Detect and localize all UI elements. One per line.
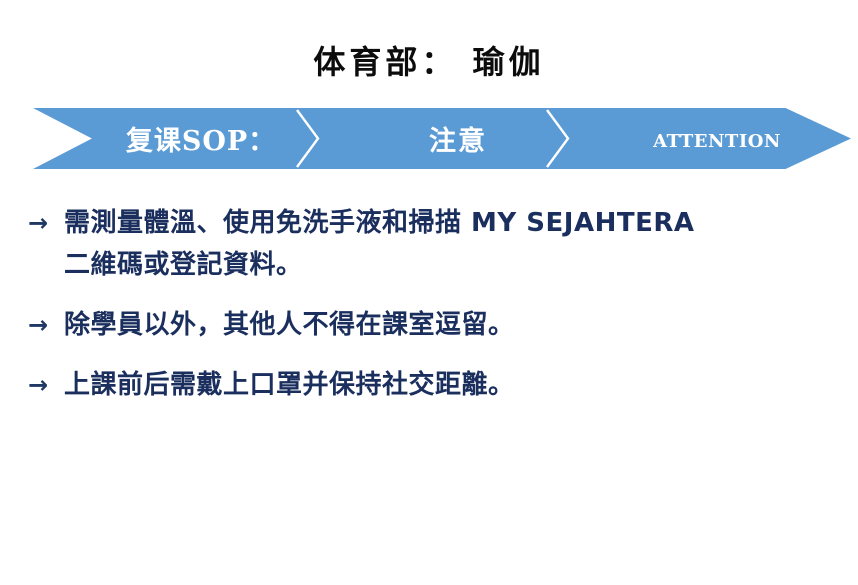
list-item: → 需測量體溫、使用免洗手液和掃描 MY SEJAHTERA 二維碼或登記資料。 <box>28 202 836 286</box>
arrow-right-icon: → <box>28 202 64 244</box>
page-title: 体育部： 瑜伽 <box>0 45 858 80</box>
banner-cell-sop: 复课SOP： <box>33 108 333 169</box>
list-item-body: 需測量體溫、使用免洗手液和掃描 MY SEJAHTERA 二維碼或登記資料。 <box>64 202 836 286</box>
list-item-line: 需測量體溫、使用免洗手液和掃描 MY SEJAHTERA <box>64 202 836 244</box>
banner-cell-sop-label: 复课SOP： <box>126 119 276 158</box>
banner-cell-attention: ATTENTION <box>583 108 851 169</box>
arrow-right-icon: → <box>28 304 64 346</box>
banner-cell-attention-label: ATTENTION <box>653 124 781 154</box>
chevron-banner: 复课SOP： 注意 ATTENTION <box>33 108 851 169</box>
slide-canvas: 体育部： 瑜伽 复课SOP： 注意 ATTENTION <box>0 0 858 585</box>
chevron-divider-icon-2 <box>545 108 571 169</box>
list-item-body: 除學員以外，其他人不得在課室逗留。 <box>64 304 836 346</box>
bullet-list: → 需測量體溫、使用免洗手液和掃描 MY SEJAHTERA 二維碼或登記資料。… <box>28 202 836 424</box>
banner-cell-zhuyi-label: 注意 <box>429 119 487 158</box>
list-item-line: 除學員以外，其他人不得在課室逗留。 <box>64 304 836 346</box>
chevron-divider-icon-1 <box>295 108 321 169</box>
list-item-body: 上課前后需戴上口罩并保持社交距離。 <box>64 364 836 406</box>
list-item-line: 二維碼或登記資料。 <box>64 244 836 286</box>
list-item: → 除學員以外，其他人不得在課室逗留。 <box>28 304 836 346</box>
list-item-line: 上課前后需戴上口罩并保持社交距離。 <box>64 364 836 406</box>
list-item: → 上課前后需戴上口罩并保持社交距離。 <box>28 364 836 406</box>
banner-cell-list: 复课SOP： 注意 ATTENTION <box>33 108 851 169</box>
arrow-right-icon: → <box>28 364 64 406</box>
